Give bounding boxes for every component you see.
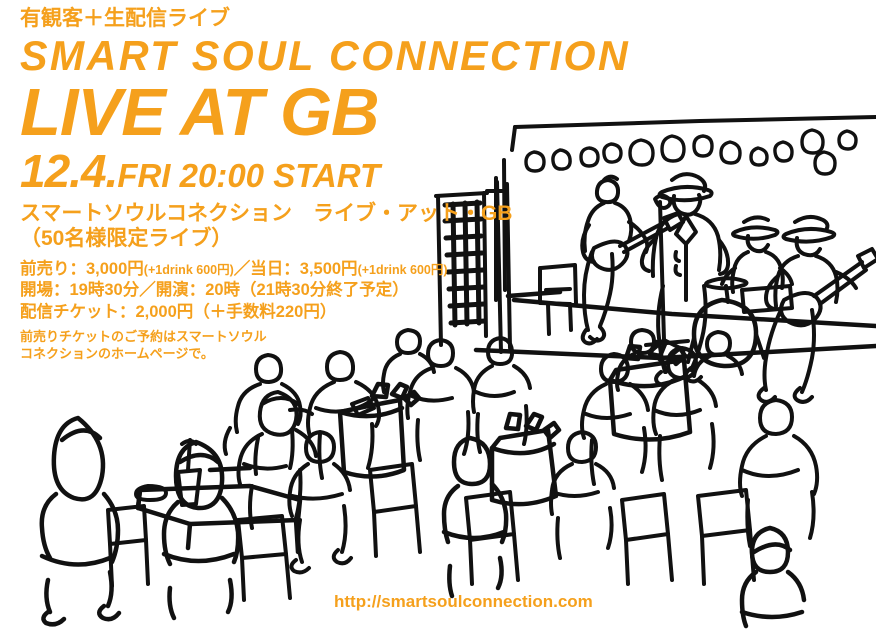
band-guitarist-left	[582, 177, 683, 344]
audience-far-right	[551, 400, 817, 558]
audience-person-rightcenter	[444, 438, 506, 596]
audience-person-bottomcenter	[164, 442, 238, 618]
reservation-note: 前売りチケットのご予約はスマートソウル コネクションのホームページで。	[20, 329, 488, 363]
band-name-heading: SMART SOUL CONNECTION	[20, 35, 479, 77]
audience-table-right	[610, 342, 690, 440]
audience-right-cluster	[582, 348, 716, 484]
price-door-label: 当日：3,500円	[250, 260, 357, 278]
poster-text-block: 有観客＋生配信ライブ SMART SOUL CONNECTION LIVE AT…	[18, 8, 488, 363]
audience-woman-center	[239, 392, 317, 528]
audience-bottom-right	[742, 528, 804, 626]
event-day-time: FRI 20:00 START	[117, 157, 380, 194]
audience-backrow-left	[225, 355, 312, 474]
audience-back-far-right	[617, 330, 742, 390]
reservation-note-line-1: 前売りチケットのご予約はスマートソウル	[20, 329, 267, 344]
event-title-heading: LIVE AT GB	[20, 79, 488, 146]
website-url[interactable]: http://smartsoulconnection.com	[334, 592, 593, 612]
kicker-text: 有観客＋生配信ライブ	[20, 8, 488, 29]
band-guitarist-right	[759, 217, 876, 402]
reservation-note-line-2: コネクションのホームページで。	[20, 346, 214, 361]
audience-woman-bottomleft	[42, 418, 119, 624]
poster-canvas: 有観客＋生配信ライブ SMART SOUL CONNECTION LIVE AT…	[0, 0, 876, 631]
audience-table-right-center	[492, 414, 559, 504]
stage-floor-edge	[476, 292, 876, 358]
microphone-stand	[646, 196, 688, 352]
audience-chairs-middle	[370, 464, 518, 584]
price-line: 前売り：3,000円(+1drink 600円)／当日：3,500円(+1dri…	[20, 259, 488, 281]
event-date: 12.4.	[20, 145, 117, 197]
price-advance-note: (+1drink 600円)	[144, 263, 234, 277]
price-door-note: (+1drink 600円)	[358, 263, 448, 277]
subtitle-line-1: スマートソウルコネクション ライブ・アット・GB	[20, 202, 488, 227]
price-separator: ／	[234, 260, 251, 278]
drink-cup-left	[178, 440, 200, 505]
audience-person-left-table	[289, 432, 351, 572]
band-drummer	[688, 217, 792, 366]
audience-chairs-bottomright	[622, 490, 754, 584]
subtitle-line-2: （50名様限定ライブ）	[20, 227, 488, 252]
stage-spotlights	[526, 130, 856, 174]
audience-table-center	[340, 384, 419, 477]
date-line: 12.4.FRI 20:00 START	[20, 148, 488, 194]
audience-chairs-bottomleft	[108, 506, 290, 600]
stream-ticket-line: 配信チケット：2,000円（＋手数料220円）	[20, 302, 488, 324]
price-advance-label: 前売り：3,000円	[20, 260, 144, 278]
audience-long-table	[138, 468, 300, 552]
audience-backrow-left-2	[308, 352, 379, 478]
band-vocalist	[642, 174, 728, 385]
schedule-line: 開場：19時30分／開演：20時（21時30分終了予定）	[20, 280, 488, 302]
amplifier-cabinet	[540, 265, 576, 334]
